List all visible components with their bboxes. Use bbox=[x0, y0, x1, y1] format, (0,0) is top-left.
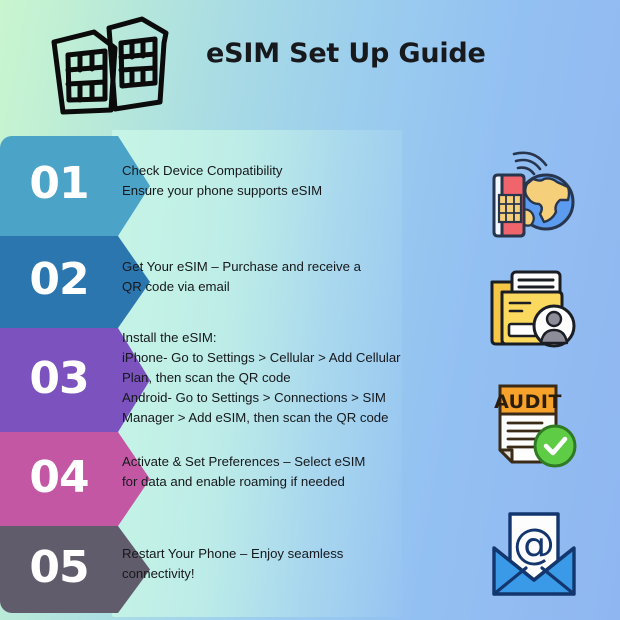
audit-document-check-icon: AUDIT bbox=[486, 378, 582, 470]
step-description: Install the eSIM: iPhone- Go to Settings… bbox=[122, 328, 452, 428]
step-description: Check Device Compatibility Ensure your p… bbox=[122, 161, 452, 201]
step-number: 05 bbox=[0, 546, 118, 590]
step-number: 03 bbox=[0, 357, 118, 401]
infographic-poster: eSIM Set Up Guide 01 Check Device Compat… bbox=[0, 0, 620, 620]
step-row: 02 Get Your eSIM – Purchase and receive … bbox=[0, 236, 460, 328]
email-envelope-at-icon: @ bbox=[486, 508, 582, 600]
page-title: eSIM Set Up Guide bbox=[206, 38, 486, 69]
step-description: Restart Your Phone – Enjoy seamless conn… bbox=[122, 544, 452, 584]
step-row: 03 Install the eSIM: iPhone- Go to Setti… bbox=[0, 328, 460, 432]
folder-document-user-icon bbox=[486, 258, 582, 350]
step-number: 01 bbox=[0, 162, 118, 206]
dual-sim-card-icon bbox=[42, 14, 174, 118]
step-number: 02 bbox=[0, 258, 118, 302]
sim-card-globe-signal-icon bbox=[484, 148, 580, 240]
step-description: Activate & Set Preferences – Select eSIM… bbox=[122, 452, 452, 492]
poster-header: eSIM Set Up Guide bbox=[0, 0, 620, 130]
step-description: Get Your eSIM – Purchase and receive a Q… bbox=[122, 257, 452, 297]
step-row: 05 Restart Your Phone – Enjoy seamless c… bbox=[0, 526, 460, 613]
step-row: 01 Check Device Compatibility Ensure you… bbox=[0, 136, 460, 236]
step-row: 04 Activate & Set Preferences – Select e… bbox=[0, 432, 460, 526]
step-number: 04 bbox=[0, 456, 118, 500]
svg-text:AUDIT: AUDIT bbox=[494, 391, 562, 413]
svg-text:@: @ bbox=[513, 519, 555, 568]
